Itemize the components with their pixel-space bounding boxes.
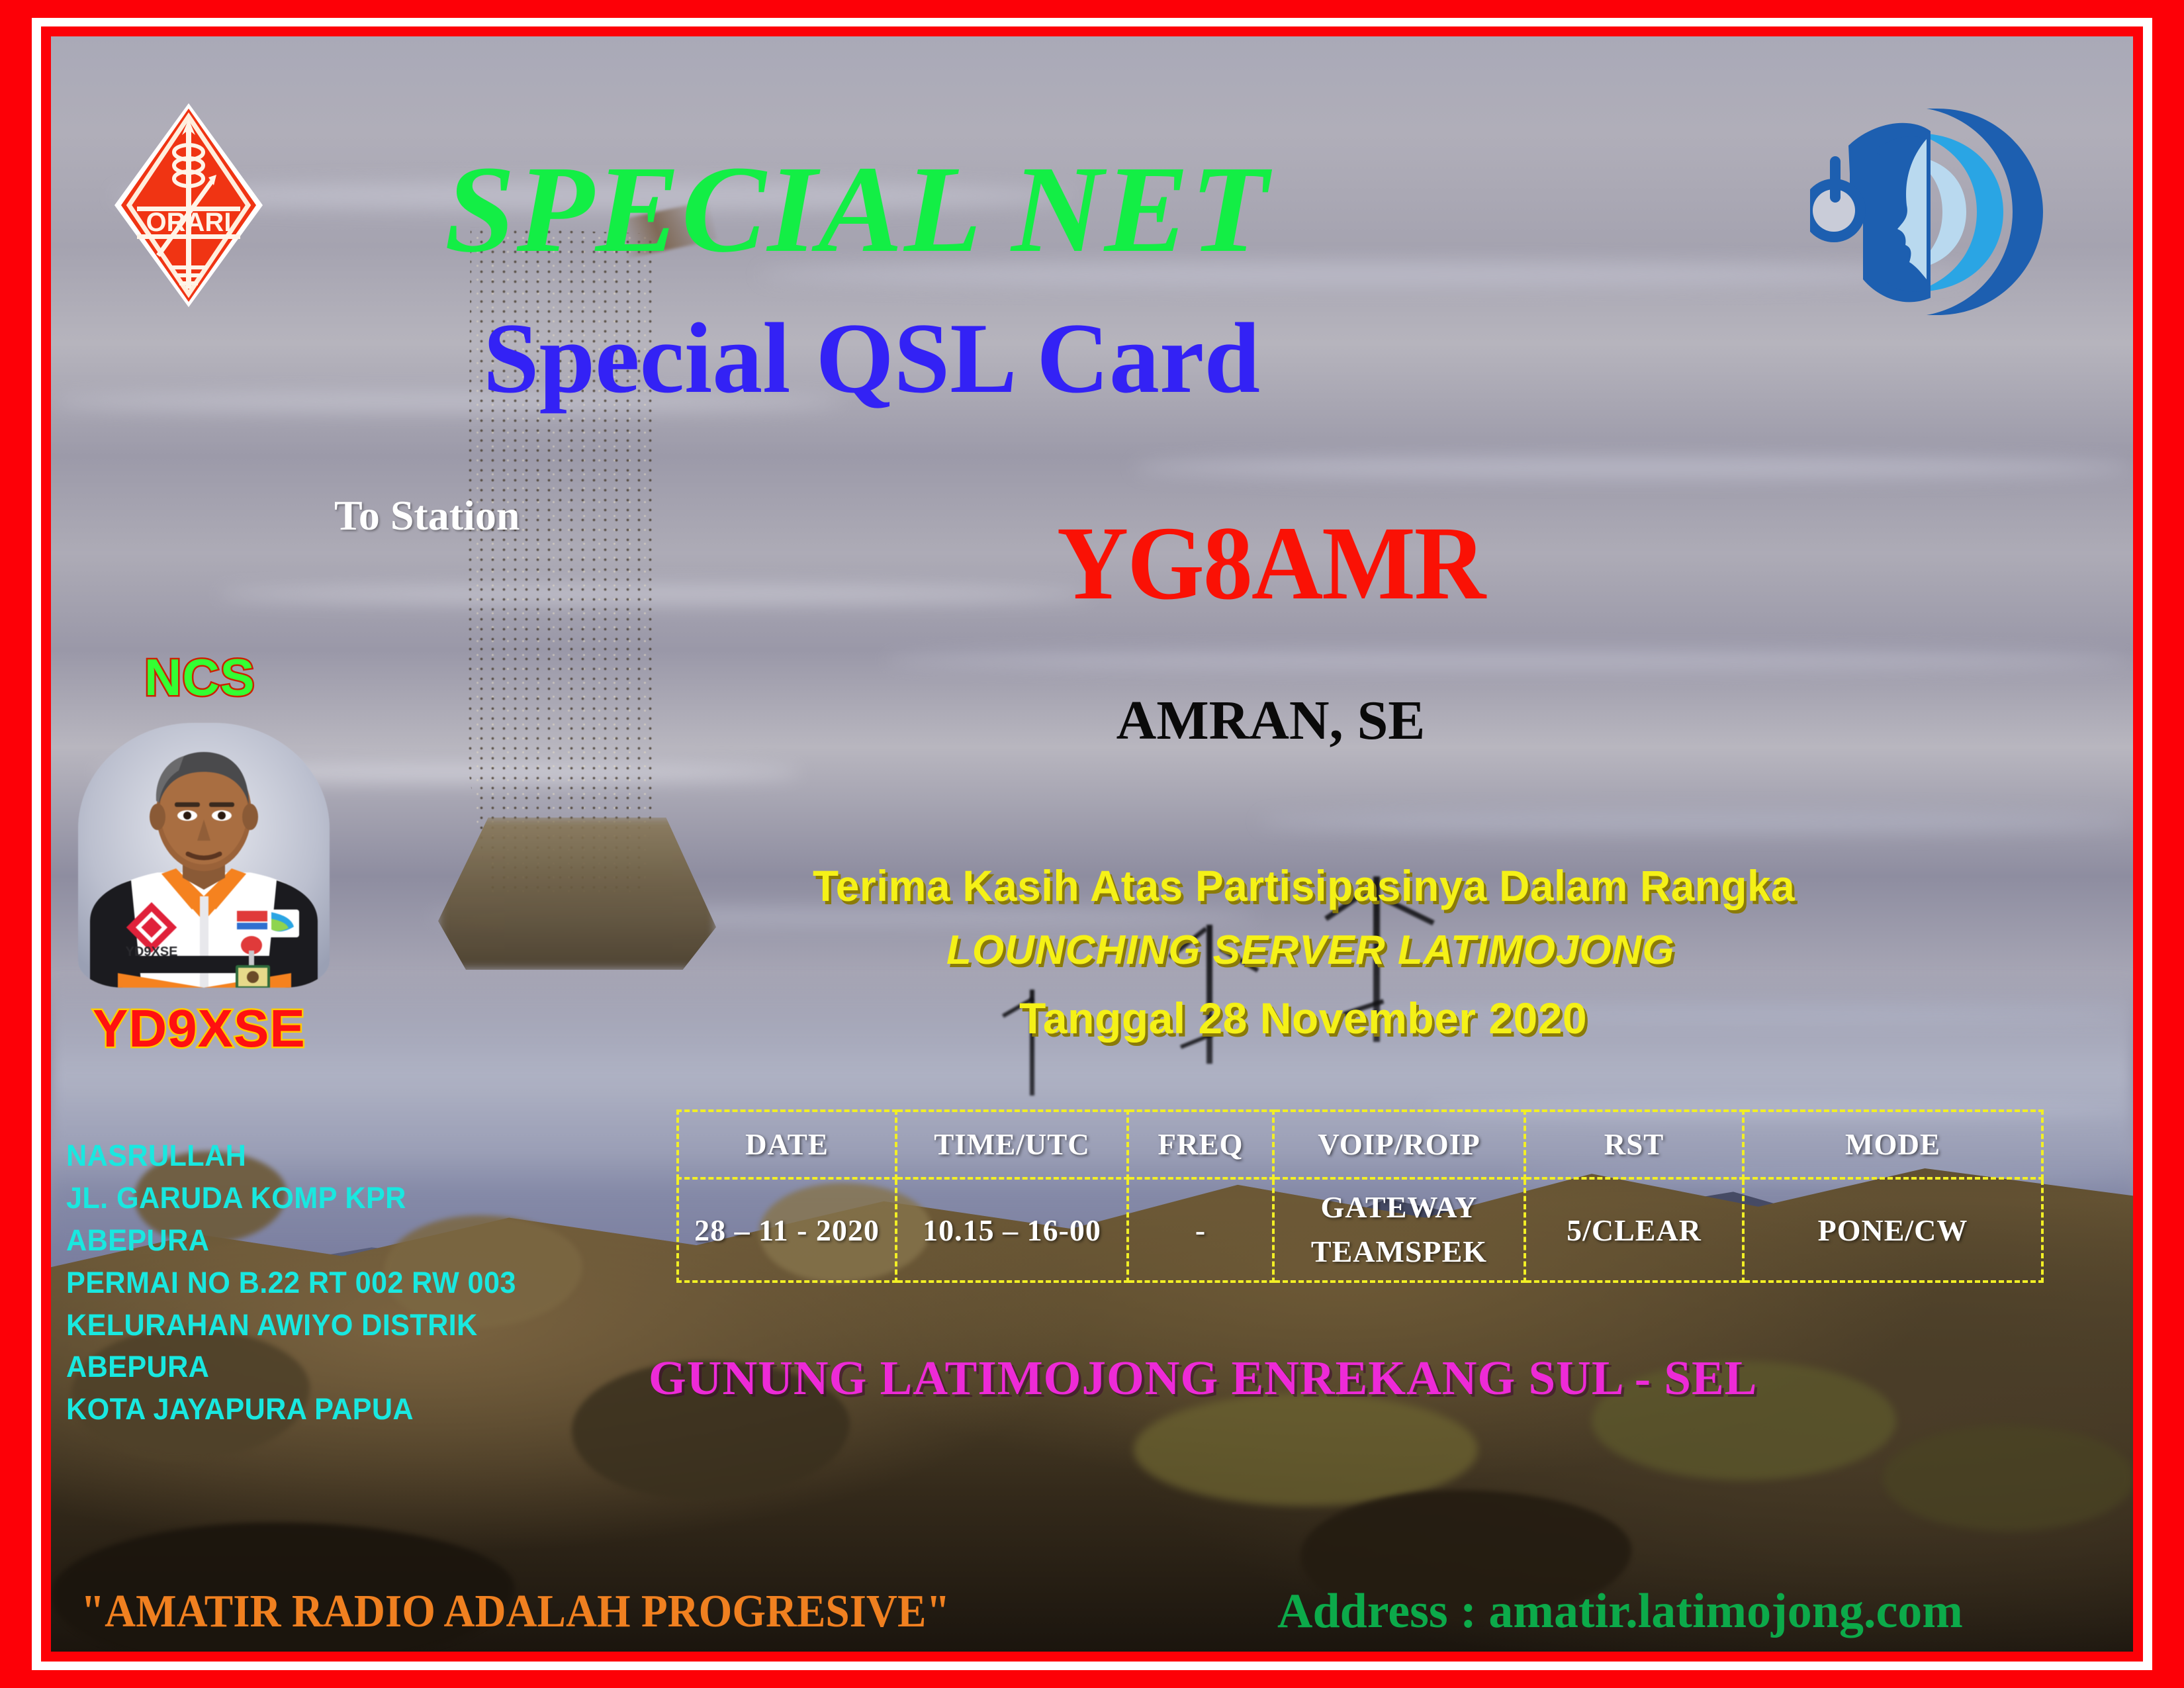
table-header-rst: RST — [1525, 1111, 1743, 1178]
cell-mode: PONE/CW — [1743, 1178, 2042, 1282]
sender-address-block: NASRULLAH JL. GARUDA KOMP KPR ABEPURA PE… — [66, 1135, 609, 1430]
card-content-overlay: ORARI — [0, 0, 2184, 1688]
ncs-callsign: YD9XSE — [93, 998, 306, 1059]
cell-voip-roip: GATEWAY TEAMSPEK — [1273, 1178, 1525, 1282]
address-line: ABEPURA — [66, 1346, 587, 1388]
cell-date: 28 – 11 - 2020 — [678, 1178, 896, 1282]
address-line: KELURAHAN AWIYO DISTRIK — [66, 1304, 587, 1346]
qsl-card: ORARI — [0, 0, 2184, 1688]
orari-wordmark: ORARI — [146, 208, 232, 237]
cell-time-utc: 10.15 – 16-00 — [896, 1178, 1128, 1282]
cell-rst: 5/CLEAR — [1525, 1178, 1743, 1282]
to-station-label: To Station — [334, 491, 520, 540]
thanks-line-1: Terima Kasih Atas Partisipasinya Dalam R… — [813, 861, 1795, 911]
table-row: 28 – 11 - 2020 10.15 – 16-00 - GATEWAY T… — [678, 1178, 2042, 1282]
cell-voip-roip-line1: GATEWAY — [1275, 1186, 1524, 1230]
table-header-mode: MODE — [1743, 1111, 2042, 1178]
location-line: GUNUNG LATIMOJONG ENREKANG SUL - SEL — [649, 1350, 1757, 1406]
uniform-callsign-text: YD9XSE — [126, 945, 178, 959]
table-header-time-utc: TIME/UTC — [896, 1111, 1128, 1178]
recipient-callsign: YG8AMR — [973, 503, 1569, 624]
avatar: YD9XSE — [78, 723, 330, 988]
footer-slogan: "AMATIR RADIO ADALAH PROGRESIVE" — [81, 1585, 950, 1638]
table-header-date: DATE — [678, 1111, 896, 1178]
address-line: JL. GARUDA KOMP KPR — [66, 1177, 587, 1219]
table-header-row: DATE TIME/UTC FREQ VOIP/ROIP RST MODE — [678, 1111, 2042, 1178]
thanks-line-2-event: LOUNCHING SERVER LATIMOJONG — [946, 927, 1675, 974]
ncs-label: NCS — [144, 647, 255, 708]
thanks-line-3-date: Tanggal 28 November 2020 — [1019, 993, 1587, 1043]
orari-logo: ORARI — [109, 99, 268, 311]
qso-log-table: DATE TIME/UTC FREQ VOIP/ROIP RST MODE 28… — [676, 1109, 2044, 1283]
headset-profile-radio-logo — [1810, 99, 2045, 324]
address-line: PERMAI NO B.22 RT 002 RW 003 — [66, 1262, 587, 1304]
address-line: NASRULLAH — [66, 1135, 587, 1177]
cell-voip-roip-line2: TEAMSPEK — [1275, 1230, 1524, 1274]
recipient-operator-name: AMRAN, SE — [940, 688, 1602, 753]
footer-web-address: Address : amatir.latimojong.com — [1277, 1583, 1963, 1640]
address-line: ABEPURA — [66, 1219, 587, 1262]
address-line: KOTA JAYAPURA PAPUA — [66, 1388, 587, 1430]
table-header-freq: FREQ — [1128, 1111, 1273, 1178]
cell-freq: - — [1128, 1178, 1273, 1282]
table-header-voip-roip: VOIP/ROIP — [1273, 1111, 1525, 1178]
page-subtitle-special-qsl-card: Special QSL Card — [483, 308, 1608, 408]
page-title-special-net: SPECIAL NET — [445, 147, 1673, 271]
